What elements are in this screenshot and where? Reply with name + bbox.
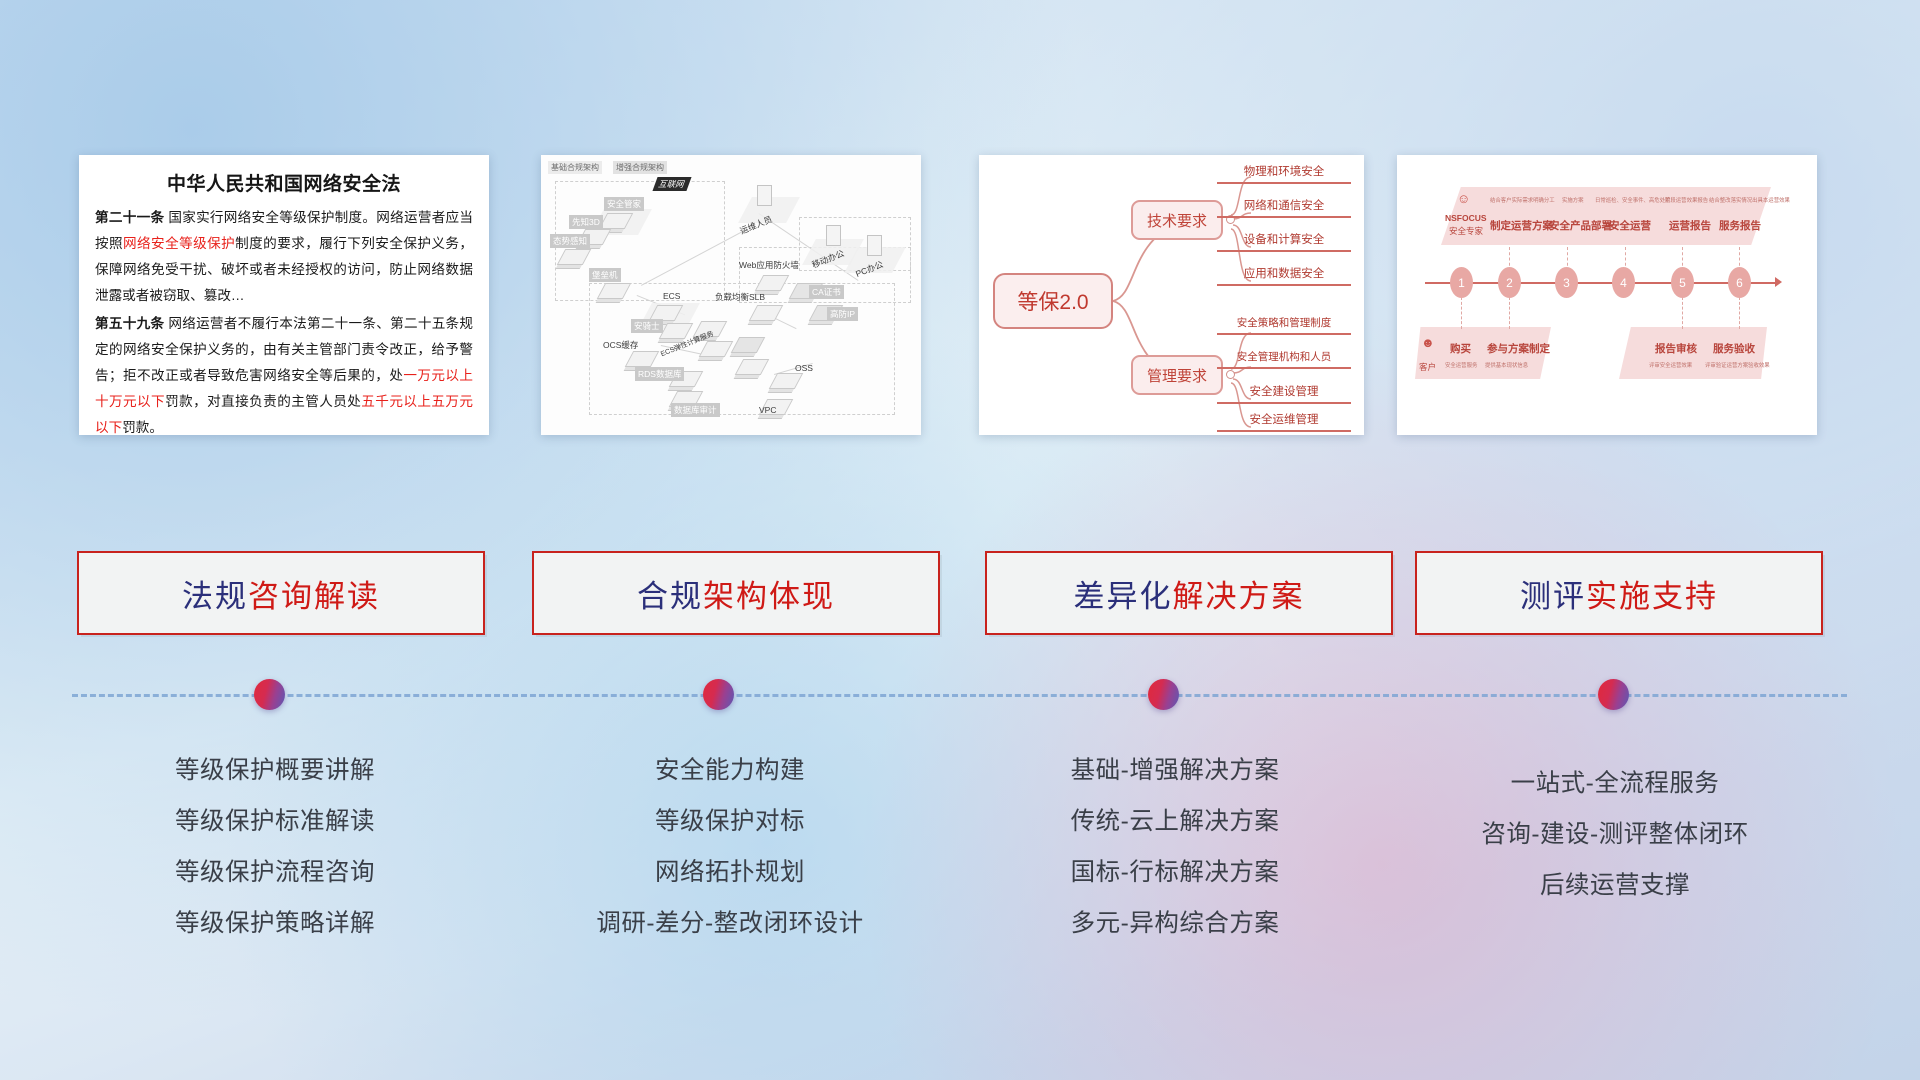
arch-tab-basic[interactable]: 基础合规架构 [548,161,602,174]
arch-label-ecs: ECS [663,291,680,301]
timeline-node[interactable]: 3 [1555,267,1578,298]
timeline-bottom-sub: 提供基本现状信息 [1485,361,1528,369]
architecture-diagram: 基础合规架构 增强合规架构 互联网 安全管家 先知3D 态势感知 [541,155,921,435]
arch-pc-icon [867,235,882,256]
rail-dot-4[interactable] [1598,679,1629,710]
list-item: 基础-增强解决方案 [965,745,1385,796]
timeline-bottom-sub: 评审安全运营效果 [1649,361,1692,369]
mindmap-leaf: 安全管理机构和人员 [1217,349,1351,369]
timeline-top-sub: 阶段运营效果报告 [1665,196,1708,204]
timeline-node[interactable]: 4 [1612,267,1635,298]
law-article-21-label: 第二十一条 [95,210,164,225]
mindmap-leaf: 安全策略和管理制度 [1217,315,1351,335]
timeline-diagram: ☺ NSFOCUS 安全专家 结合客户实际需求明确分工 制定运营方案 实施方案 … [1397,155,1817,435]
timeline-top-title: 服务报告 [1719,218,1761,233]
mindmap-leaf: 应用和数据安全 [1217,265,1351,286]
list-item: 等级保护概要讲解 [65,745,485,796]
timeline-bottom-title: 参与方案制定 [1487,341,1550,356]
arch-tab-enhanced[interactable]: 增强合规架构 [613,161,667,174]
timeline-top-sub: 实施方案 [1562,196,1584,204]
timeline-top-sub: 结合客户实际需求明确分工 [1490,196,1555,204]
arch-mobile-icon [826,225,841,246]
card-law-text: 中华人民共和国网络安全法 第二十一条 国家实行网络安全等级保护制度。网络运营者应… [79,155,489,435]
timeline-customer-label: 客户 [1419,361,1436,373]
arch-label-ca-cert: CA证书 [809,285,844,299]
mindmap-branch-management[interactable]: 管理要求 [1131,355,1223,395]
timeline-top-title: 制定运营方案 [1490,218,1553,233]
arch-label-rds: RDS数据库 [635,367,684,381]
arch-label-safety-butler: 安全管家 [604,197,644,211]
timeline-axis [1425,282,1777,284]
list-item: 一站式-全流程服务 [1405,758,1825,809]
timeline-dropper [1739,297,1740,329]
column-list-4: 一站式-全流程服务 咨询-建设-测评整体闭环 后续运营支撑 [1405,758,1825,911]
card-mindmap: 等保2.0 技术要求 物理和环境安全 网络和通信安全 设备和计算安全 应用和数据… [979,155,1364,435]
law-title: 中华人民共和国网络安全法 [95,169,473,196]
timeline-dropper [1682,297,1683,329]
law-article-59-text-c: 罚款。 [122,420,163,435]
mindmap-diagram: 等保2.0 技术要求 物理和环境安全 网络和通信安全 设备和计算安全 应用和数据… [979,155,1364,435]
mindmap-branch-technical[interactable]: 技术要求 [1131,200,1223,240]
law-article-59-label: 第五十九条 [95,316,164,331]
mindmap-leaf: 安全建设管理 [1217,383,1351,404]
arch-label-situation-awareness: 态势感知 [550,234,590,248]
mindmap-leaf: 安全运维管理 [1217,411,1351,432]
column-title-box-2[interactable]: 合规架构体现 [532,551,940,635]
law-paragraph-21: 第二十一条 国家实行网络安全等级保护制度。网络运营者应当按照网络安全等级保护制度… [95,205,473,309]
column-title-box-3[interactable]: 差异化解决方案 [985,551,1393,635]
timeline-top-title: 安全运营 [1609,218,1651,233]
column-title-navy-3: 差异化 [1074,571,1173,616]
column-title-box-1[interactable]: 法规咨询解读 [77,551,485,635]
mindmap-leaf: 网络和通信安全 [1217,197,1351,218]
timeline-top-sub: 日常巡检、安全事件、高危处置 [1595,196,1670,204]
column-title-navy-2: 合规 [637,571,703,616]
rail-dot-1[interactable] [254,679,285,710]
rail-dot-3[interactable] [1148,679,1179,710]
column-list-1: 等级保护概要讲解 等级保护标准解读 等级保护流程咨询 等级保护策略详解 [65,745,485,949]
arch-label-waf: Web应用防火墙 [739,259,799,271]
timeline-top-title: 运营报告 [1669,218,1711,233]
column-title-navy-1: 法规 [182,571,248,616]
arch-label-vpc: VPC [759,405,776,415]
timeline-dropper [1461,297,1462,329]
column-list-3: 基础-增强解决方案 传统-云上解决方案 国标-行标解决方案 多元-异构综合方案 [965,745,1385,949]
timeline-bottom-sub: 评审验证运营方案验收效果 [1705,361,1770,369]
arch-label-db-audit: 数据库审计 [671,403,720,417]
column-title-box-4[interactable]: 测评实施支持 [1415,551,1823,635]
card-cloud-architecture: 基础合规架构 增强合规架构 互联网 安全管家 先知3D 态势感知 [541,155,921,435]
mindmap-collapse-icon[interactable] [1226,370,1235,379]
timeline-bottom-title: 购买 [1450,341,1471,356]
arch-label-oss: OSS [795,363,813,373]
timeline-arrowhead [1775,277,1782,287]
arch-label-anti-ddos: 高防IP [827,307,858,321]
list-item: 后续运营支撑 [1405,860,1825,911]
arch-label-internet: 互联网 [652,177,691,191]
list-item: 多元-异构综合方案 [965,898,1385,949]
column-title-red-1: 咨询解读 [248,571,380,616]
arch-user-icon [757,185,772,206]
card-service-timeline: ☺ NSFOCUS 安全专家 结合客户实际需求明确分工 制定运营方案 实施方案 … [1397,155,1817,435]
column-title-red-3: 解决方案 [1173,571,1305,616]
list-item: 等级保护策略详解 [65,898,485,949]
timeline-rail [72,694,1847,697]
slide-canvas: 中华人民共和国网络安全法 第二十一条 国家实行网络安全等级保护制度。网络运营者应… [0,0,1920,1080]
timeline-node[interactable]: 5 [1671,267,1694,298]
list-item: 调研-差分-整改闭环设计 [520,898,940,949]
column-title-red-2: 架构体现 [703,571,835,616]
timeline-top-sub: 结合整改落实情况出具本运营效果 [1709,196,1790,204]
list-item: 等级保护对标 [520,796,940,847]
list-item: 国标-行标解决方案 [965,847,1385,898]
timeline-dropper [1509,297,1510,329]
list-item: 咨询-建设-测评整体闭环 [1405,809,1825,860]
arch-label-slb: 负载均衡SLB [715,291,765,303]
column-title-navy-4: 测评 [1520,571,1586,616]
timeline-brand-label: NSFOCUS [1445,213,1487,223]
timeline-bottom-title: 报告审核 [1655,341,1697,356]
timeline-node[interactable]: 6 [1728,267,1751,298]
list-item: 等级保护流程咨询 [65,847,485,898]
timeline-expert-role-label: 安全专家 [1449,225,1483,237]
rail-dot-2[interactable] [703,679,734,710]
expert-person-icon: ☺ [1457,191,1470,206]
law-paragraph-59: 第五十九条 网络运营者不履行本法第二十一条、第二十五条规定的网络安全保护义务的，… [95,311,473,435]
customer-person-icon: ☻ [1421,335,1435,350]
arch-label-anqishi: 安骑士 [631,319,663,333]
list-item: 等级保护标准解读 [65,796,485,847]
timeline-node[interactable]: 1 [1450,267,1473,298]
mindmap-leaf: 物理和环境安全 [1217,163,1351,184]
list-item: 传统-云上解决方案 [965,796,1385,847]
law-article-59-text-b: 罚款，对直接负责的主管人员处 [165,394,361,409]
arch-label-bastion-host: 堡垒机 [589,268,621,282]
column-title-red-4: 实施支持 [1586,571,1718,616]
timeline-top-title: 安全产品部署 [1549,218,1612,233]
mindmap-leaf: 设备和计算安全 [1217,231,1351,252]
timeline-node[interactable]: 2 [1498,267,1521,298]
column-list-2: 安全能力构建 等级保护对标 网络拓扑规划 调研-差分-整改闭环设计 [520,745,940,949]
arch-label-ocs-cache: OCS缓存 [603,339,638,351]
mindmap-root-node[interactable]: 等保2.0 [993,273,1113,329]
law-body: 中华人民共和国网络安全法 第二十一条 国家实行网络安全等级保护制度。网络运营者应… [79,155,489,435]
arch-label-xianzhi3d: 先知3D [569,215,603,229]
list-item: 网络拓扑规划 [520,847,940,898]
timeline-bottom-sub: 安全运营服务 [1445,361,1477,369]
law-article-21-highlight: 网络安全等级保护 [123,236,235,251]
timeline-bottom-title: 服务验收 [1713,341,1755,356]
list-item: 安全能力构建 [520,745,940,796]
